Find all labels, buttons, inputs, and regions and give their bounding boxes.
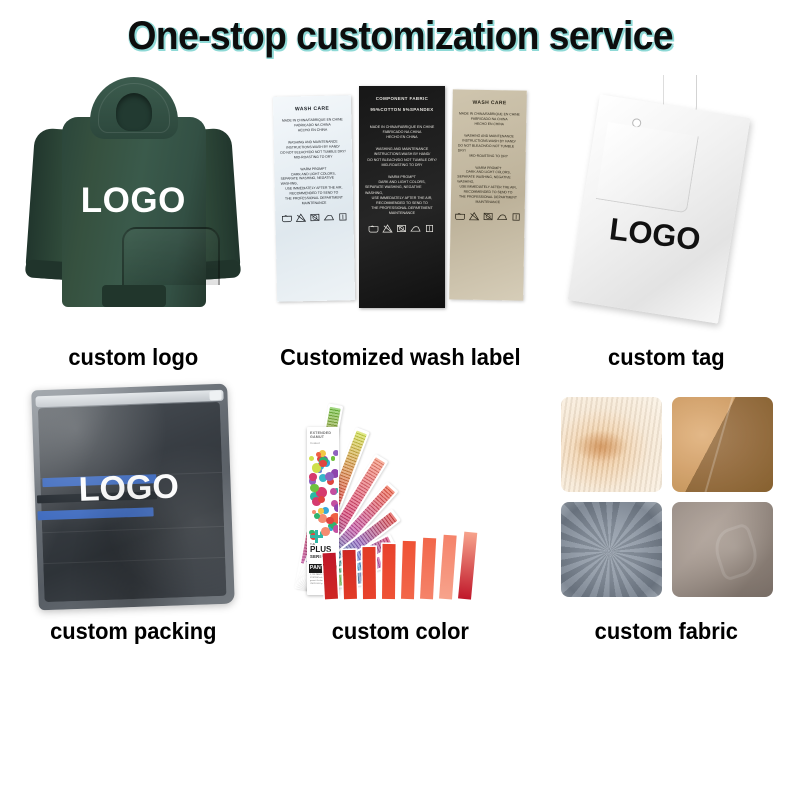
feature-cell-custom-packing[interactable]: LOGO custom packing (0, 377, 267, 687)
caption-custom-tag: custom tag (540, 344, 793, 371)
pantone-fan-page-tip[interactable] (401, 540, 416, 598)
cover-dot (310, 484, 318, 492)
cover-dot (314, 513, 320, 519)
packing-bag-body: LOGO (32, 384, 236, 611)
hand-wash-icon (368, 224, 379, 233)
page-title: One-stop customization service (127, 14, 673, 59)
feature-cell-custom-tag[interactable]: LOGO custom tag (533, 72, 800, 377)
cover-line-2: GAMUT (310, 435, 336, 440)
pantone-fan-page-tip[interactable] (342, 549, 357, 598)
cover-dot-pattern (308, 449, 338, 541)
professional-care-icon (337, 212, 348, 221)
care-symbol-row (281, 212, 348, 222)
cover-dot (333, 450, 338, 456)
feature-cell-custom-fabric[interactable]: custom fabric (533, 377, 800, 687)
do-not-bleach-icon (468, 211, 479, 220)
pantone-fan-page-tip[interactable] (439, 534, 457, 599)
cover-dot (331, 456, 336, 461)
label-line: SEPARATE WASHING, NEGATIVE WASHING, (457, 174, 519, 185)
cover-dot (330, 488, 337, 495)
hang-tag-card: LOGO (568, 94, 751, 323)
do-not-bleach-icon (295, 213, 306, 222)
cover-line-3: Coated (310, 441, 336, 445)
hang-tag-logo-print: LOGO (577, 208, 732, 262)
wash-label-white-title: WASH CARE (295, 105, 329, 112)
label-line: HECHO EN CHINA (386, 135, 417, 140)
hoodie-graphic: LOGO (28, 77, 238, 325)
wash-label-black-subtitle: 95%COTTON 5%SPANDEX (370, 107, 433, 112)
label-line: MID-ROASTING TO DRY (382, 163, 423, 168)
do-not-bleach-icon (382, 224, 393, 233)
professional-care-icon (424, 224, 435, 233)
hang-tag-photo: LOGO (533, 72, 800, 330)
fabric-swatch-taupe-brushed-fleece (672, 502, 773, 597)
hand-wash-icon (281, 213, 292, 222)
wash-label-beige-title: WASH CARE (472, 99, 506, 106)
pantone-fan-page-tip[interactable] (458, 531, 477, 599)
label-line: MAINTENANCE (302, 200, 327, 205)
packing-bag-graphic: LOGO (29, 383, 237, 611)
caption-custom-fabric: custom fabric (540, 618, 793, 645)
do-not-tumble-dry-icon (396, 224, 407, 233)
cover-dot (334, 504, 338, 512)
do-not-tumble-dry-icon (482, 211, 493, 220)
feature-cell-custom-color[interactable]: EXTENDED GAMUT Coated THE PLUS SERIES PA… (267, 377, 534, 687)
cover-dot (318, 508, 324, 514)
packing-bag-logo-print: LOGO (78, 467, 179, 509)
pantone-fan-page-tip[interactable] (362, 546, 376, 598)
wash-label-black: COMPONENT FABRIC 95%COTTON 5%SPANDEX MAD… (359, 86, 445, 308)
feature-grid: LOGO custom logo WASH CARE MADE IN CHINA… (0, 72, 800, 732)
care-symbol-row (368, 224, 435, 233)
fold-line (44, 557, 226, 564)
caption-custom-packing: custom packing (7, 618, 260, 645)
packing-bag-photo: LOGO (0, 381, 267, 613)
label-line: HECHO EN CHINA (474, 121, 503, 126)
pantone-fan-page-tip[interactable] (420, 537, 436, 599)
fabric-swatch-photo (533, 381, 800, 613)
promo-banner: One-stop customization service LOGO cust… (0, 0, 800, 800)
caption-custom-wash-label: Customized wash label (273, 344, 526, 371)
hang-tag-fold (596, 122, 699, 213)
fabric-swatch-grid (561, 397, 773, 597)
cover-dot (319, 460, 327, 468)
hand-wash-icon (454, 211, 465, 220)
plus-icon (310, 530, 323, 543)
feature-cell-custom-wash-label[interactable]: WASH CARE MADE IN CHINA/FABRIQUE EN CHIN… (267, 72, 534, 377)
cover-dot (326, 517, 333, 524)
do-not-tumble-dry-icon (309, 212, 320, 221)
wash-label-black-title: COMPONENT FABRIC (376, 96, 429, 101)
hang-tag-graphic: LOGO (559, 75, 774, 327)
wash-label-group: WASH CARE MADE IN CHINA/FABRIQUE EN CHIN… (275, 84, 525, 319)
cover-dot (309, 456, 314, 461)
fabric-swatch-cream-ribbed-knit (561, 397, 662, 492)
pantone-fan-page-tip[interactable] (323, 552, 338, 599)
iron-icon (496, 212, 507, 221)
fabric-swatch-camel-woven-twill (672, 397, 773, 492)
banner-header: One-stop customization service (0, 14, 800, 59)
cover-dot (333, 525, 338, 532)
hoodie-logo-print: LOGO (28, 181, 238, 221)
cover-dot (318, 496, 325, 503)
professional-care-icon (510, 212, 521, 221)
iron-icon (410, 224, 421, 233)
hoodie-hem (102, 285, 166, 307)
wash-label-beige: WASH CARE MADE IN CHINA/FABRIQUE EN CHIN… (449, 89, 527, 300)
iron-icon (323, 212, 334, 221)
label-line: DO NOT BLEACH/DO NOT TUMBLE DRY/ (458, 143, 520, 154)
cover-dot (325, 472, 334, 481)
pantone-fan-photo: EXTENDED GAMUT Coated THE PLUS SERIES PA… (267, 381, 534, 613)
cover-heading: EXTENDED GAMUT Coated (307, 427, 339, 448)
fold-line (43, 526, 225, 533)
caption-custom-logo: custom logo (7, 344, 260, 371)
label-line: MAINTENANCE (475, 199, 500, 204)
label-line: MAINTENANCE (389, 211, 415, 216)
care-symbol-row (454, 211, 521, 221)
feature-cell-custom-logo[interactable]: LOGO custom logo (0, 72, 267, 377)
wash-label-white: WASH CARE MADE IN CHINA/FABRIQUE EN CHIN… (273, 95, 355, 302)
cover-dot (309, 473, 316, 480)
hoodie-photo: LOGO (0, 72, 267, 330)
fabric-swatch-grey-heather-fleece (561, 502, 662, 597)
label-line: MID-ROASTING TO DRY (469, 153, 508, 159)
caption-custom-color: custom color (273, 618, 526, 645)
pantone-fan-graphic: EXTENDED GAMUT Coated THE PLUS SERIES PA… (291, 390, 509, 605)
label-line: HECHO EN CHINA (298, 127, 327, 133)
wash-label-photo: WASH CARE MADE IN CHINA/FABRIQUE EN CHIN… (267, 72, 534, 330)
pantone-fan-page-tip[interactable] (382, 543, 396, 598)
hoodie-kangaroo-pocket (122, 227, 220, 285)
label-line: MID-ROASTING TO DRY (294, 154, 333, 160)
label-line: SEPARATE WASHING, NEGATIVE WASHING, (365, 185, 439, 195)
